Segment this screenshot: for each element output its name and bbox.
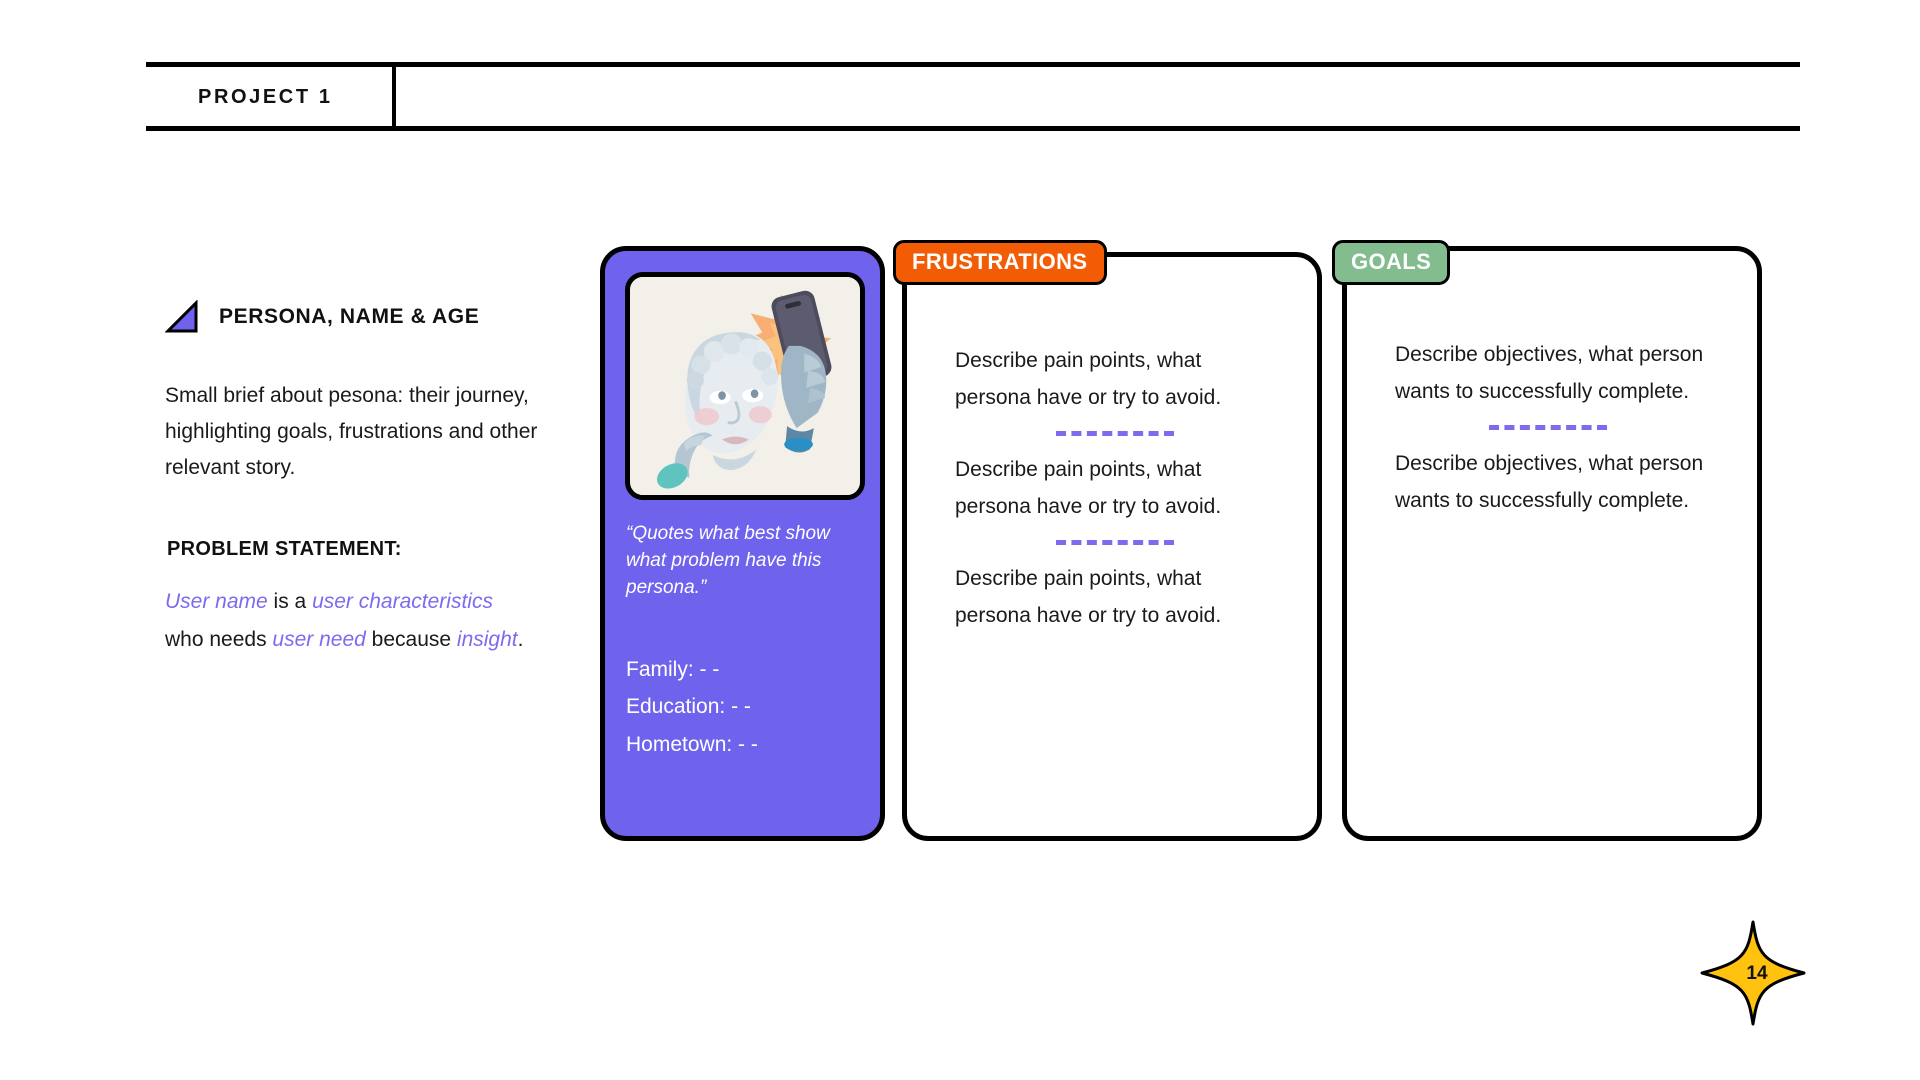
ps-connector-2: who needs — [165, 628, 272, 651]
persona-card: “Quotes what best show what problem have… — [600, 246, 885, 841]
goals-content: Describe objectives, what person wants t… — [1395, 337, 1715, 519]
ps-connector-1: is a — [268, 590, 312, 613]
triangle-icon — [165, 300, 199, 334]
left-column: PERSONA, NAME & AGE Small brief about pe… — [165, 300, 585, 658]
placeholder-user-name: User name — [165, 590, 268, 613]
demographic-education: Education: - - — [626, 688, 876, 725]
persona-demographics: Family: - - Education: - - Hometown: - - — [626, 651, 876, 763]
ps-connector-4: . — [518, 628, 524, 651]
goal-item: Describe objectives, what person wants t… — [1395, 337, 1715, 410]
frustration-item: Describe pain points, what persona have … — [955, 561, 1275, 634]
placeholder-user-characteristics: user characteristics — [312, 590, 493, 613]
demographic-family: Family: - - — [626, 651, 876, 688]
header-vertical-divider — [392, 65, 396, 129]
persona-brief-text: Small brief about pesona: their journey,… — [165, 378, 575, 486]
page-number-star: 14 — [1698, 918, 1808, 1028]
page-number: 14 — [1698, 918, 1808, 1028]
frustrations-card: Describe pain points, what persona have … — [902, 252, 1322, 841]
persona-photo — [625, 272, 865, 500]
dashed-divider — [955, 531, 1275, 553]
goals-card: Describe objectives, what person wants t… — [1342, 246, 1762, 841]
ps-connector-3: because — [366, 628, 457, 651]
slide: PROJECT 1 PERSONA, NAME & AGE Small brie… — [0, 0, 1920, 1080]
dashed-divider — [1395, 416, 1715, 438]
frustration-item: Describe pain points, what persona have … — [955, 452, 1275, 525]
persona-section-header: PERSONA, NAME & AGE — [165, 300, 585, 334]
frustrations-tag: FRUSTRATIONS — [893, 240, 1107, 285]
persona-section-title: PERSONA, NAME & AGE — [219, 305, 479, 329]
slide-header: PROJECT 1 — [146, 62, 1800, 130]
frustrations-content: Describe pain points, what persona have … — [955, 343, 1275, 634]
placeholder-user-need: user need — [272, 628, 365, 651]
demographic-hometown: Hometown: - - — [626, 726, 876, 763]
frustration-item: Describe pain points, what persona have … — [955, 343, 1275, 416]
problem-statement-title: PROBLEM STATEMENT: — [167, 538, 585, 561]
dashed-divider — [955, 422, 1275, 444]
persona-quote: “Quotes what best show what problem have… — [626, 521, 866, 602]
goals-tag: GOALS — [1332, 240, 1450, 285]
project-title: PROJECT 1 — [198, 86, 333, 109]
problem-statement-text: User name is a user characteristics who … — [165, 583, 525, 658]
placeholder-insight: insight — [457, 628, 518, 651]
goal-item: Describe objectives, what person wants t… — [1395, 446, 1715, 519]
header-bottom-rule — [146, 126, 1800, 131]
